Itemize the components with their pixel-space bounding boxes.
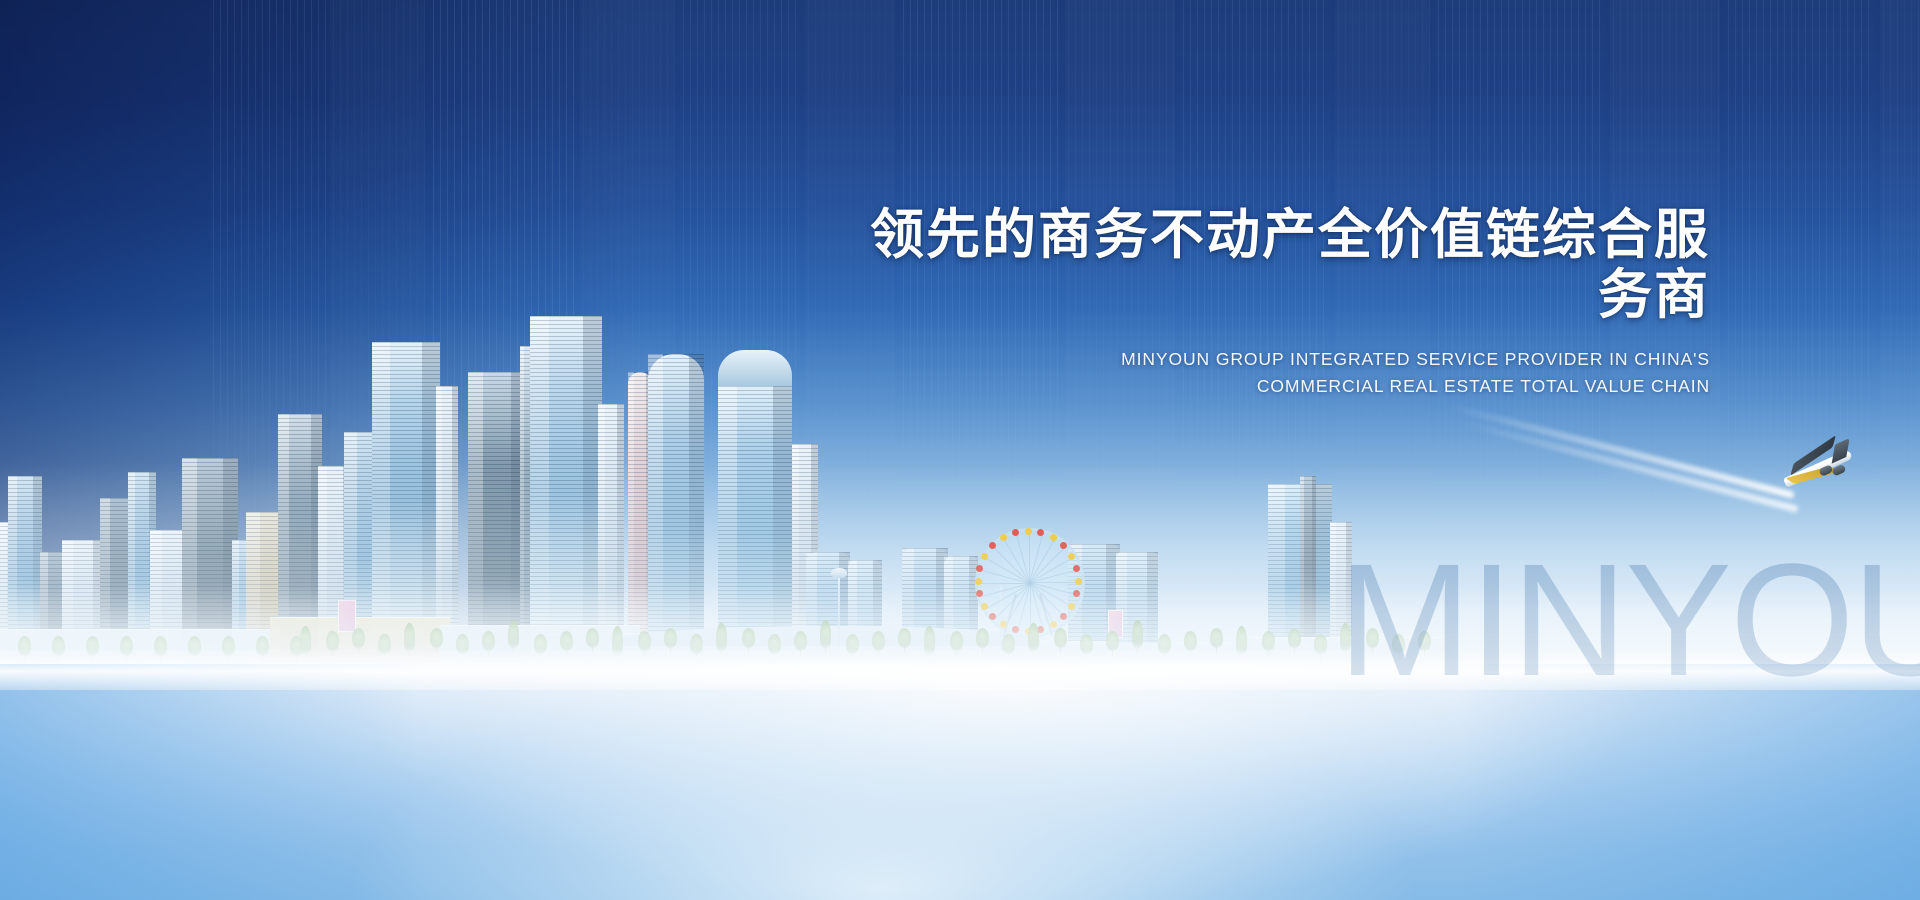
subtitle-line-1: MINYOUN GROUP INTEGRATED SERVICE PROVIDE… — [820, 346, 1710, 373]
water-left-shading — [0, 664, 420, 900]
subtitle-line-2: COMMERCIAL REAL ESTATE TOTAL VALUE CHAIN — [820, 373, 1710, 400]
tower-cap — [718, 350, 792, 386]
hero-banner: MINYOUN 领先的商务不动产全价值链综合服务商 MINYOUN GROUP … — [0, 0, 1920, 900]
banner-text-block: 领先的商务不动产全价值链综合服务商 MINYOUN GROUP INTEGRAT… — [820, 205, 1710, 399]
airplane-with-contrail — [1430, 440, 1860, 600]
page-title: 领先的商务不动产全价值链综合服务商 — [820, 205, 1710, 326]
